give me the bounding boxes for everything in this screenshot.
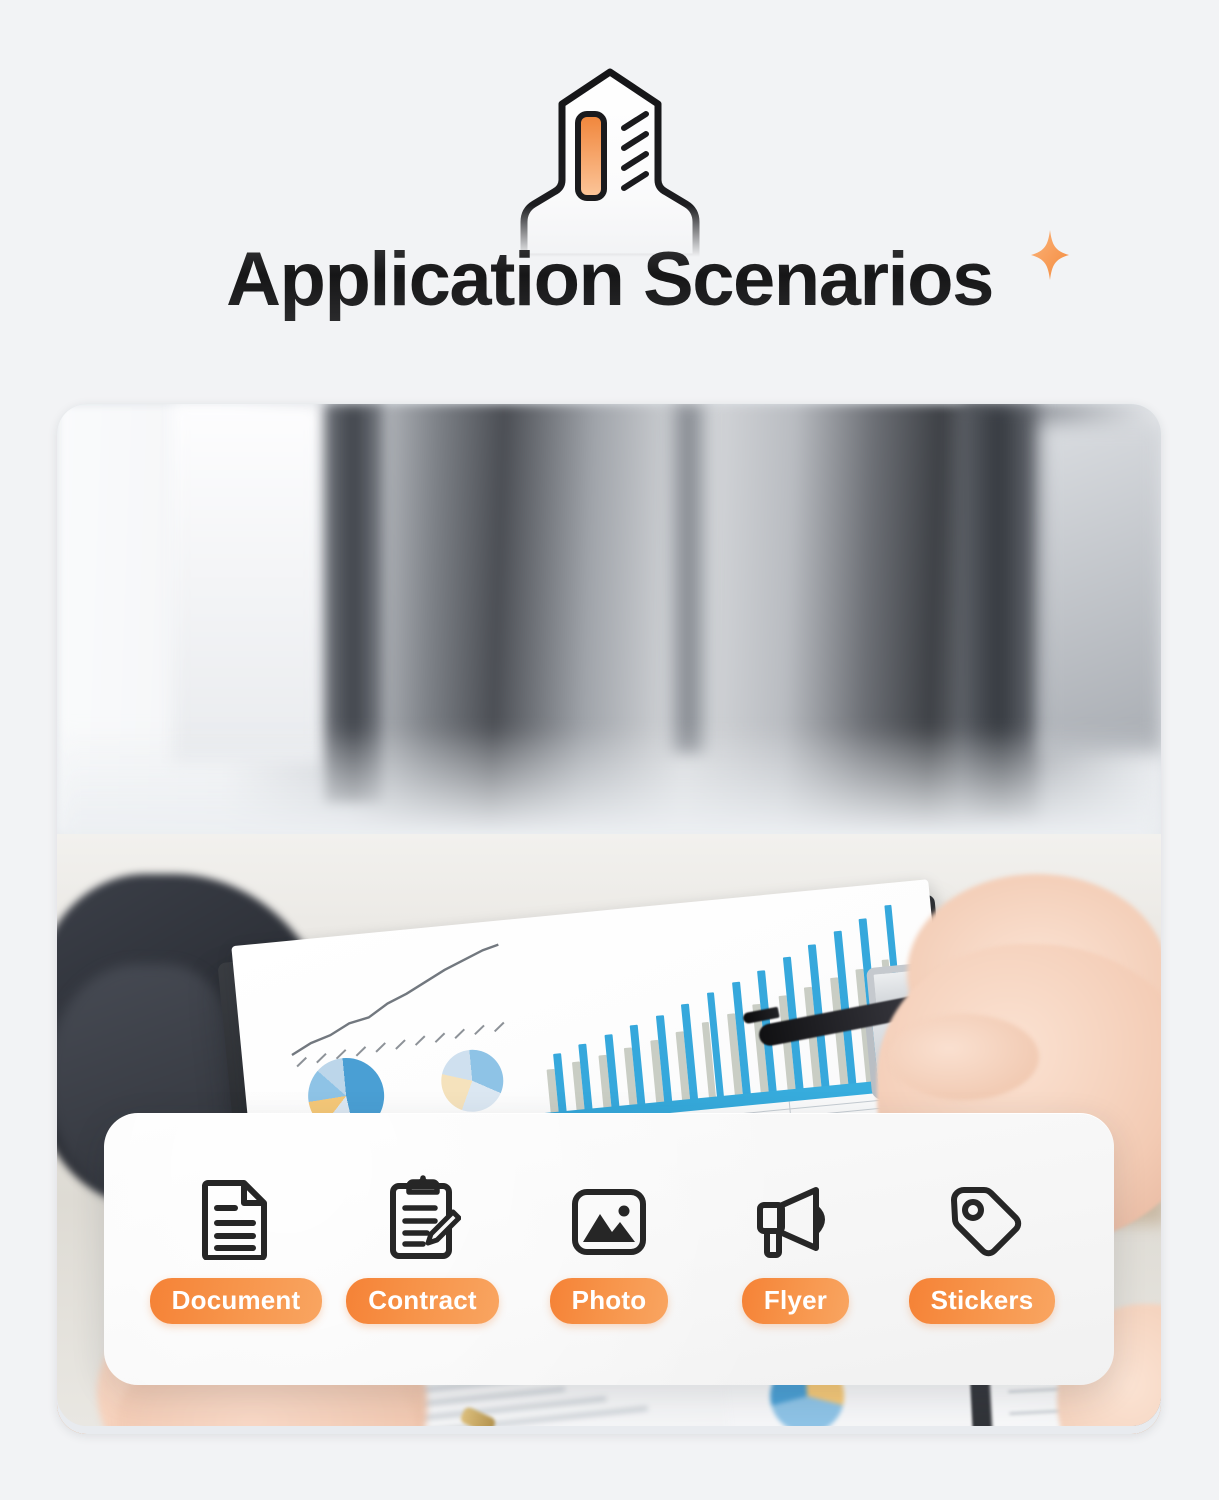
document-icon	[201, 1174, 271, 1260]
scenario-label-document[interactable]: Document	[150, 1278, 323, 1324]
scenario-item-stickers[interactable]: Stickers	[892, 1174, 1072, 1324]
office-pillar	[669, 404, 709, 754]
price-tag-icon	[942, 1174, 1022, 1260]
scenario-item-document[interactable]: Document	[146, 1174, 326, 1324]
clipboard-pencil-icon	[385, 1174, 461, 1260]
scenario-item-flyer[interactable]: Flyer	[706, 1174, 886, 1324]
megaphone-icon	[754, 1174, 838, 1260]
window-light	[172, 404, 322, 764]
header-section: Application Scenarios	[0, 0, 1219, 390]
window-light	[1042, 424, 1161, 754]
building-tower-icon	[500, 62, 720, 257]
report-pie-chart	[438, 1047, 506, 1115]
sparkle-icon	[1029, 228, 1071, 282]
scenario-label-flyer[interactable]: Flyer	[742, 1278, 849, 1324]
scenario-label-photo[interactable]: Photo	[550, 1278, 669, 1324]
scenario-item-photo[interactable]: Photo	[519, 1174, 699, 1324]
scenario-label-contract[interactable]: Contract	[346, 1278, 499, 1324]
right-thumb	[889, 1014, 1039, 1100]
image-icon	[570, 1174, 648, 1260]
infographic-page: Application Scenarios	[0, 0, 1219, 1500]
scenario-item-contract[interactable]: Contract	[333, 1174, 513, 1324]
scenario-card: Document Con	[104, 1113, 1114, 1385]
scenario-label-stickers[interactable]: Stickers	[909, 1278, 1056, 1324]
scenario-list: Document Con	[104, 1113, 1114, 1385]
